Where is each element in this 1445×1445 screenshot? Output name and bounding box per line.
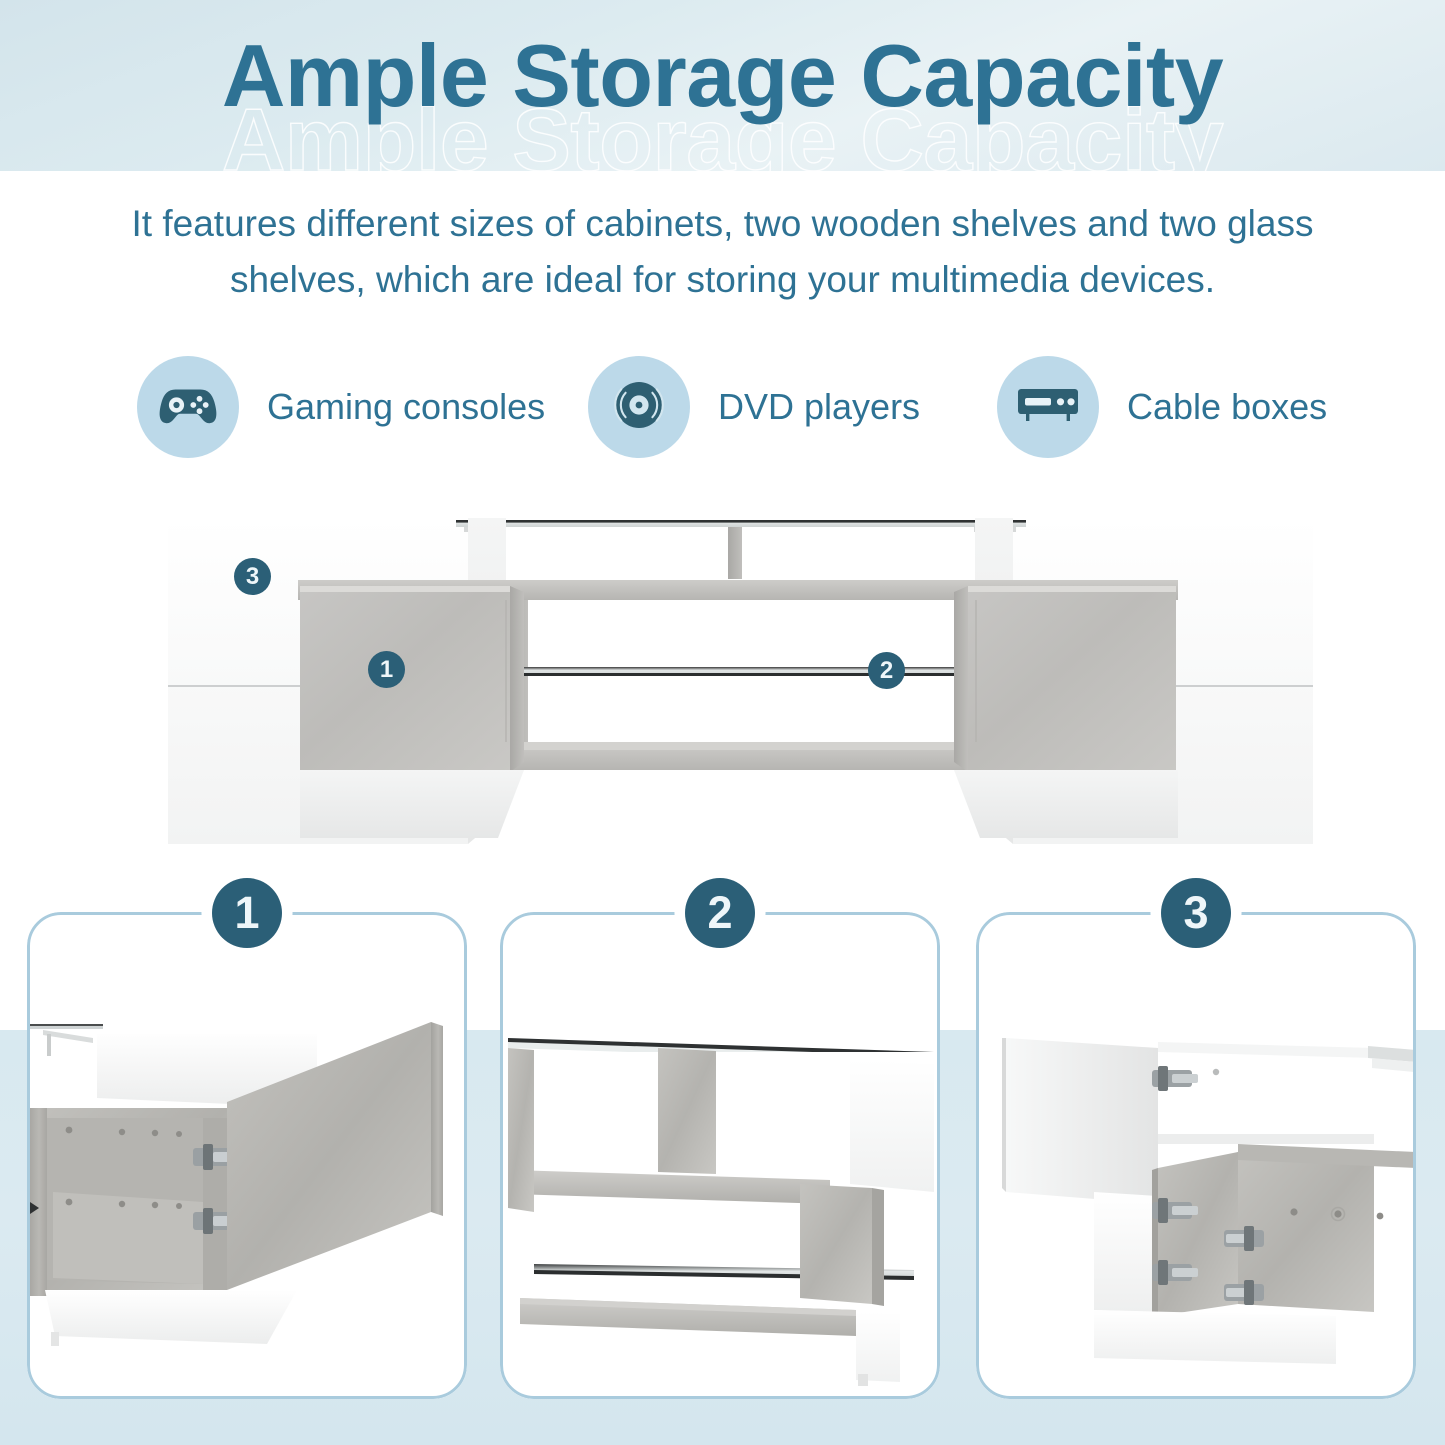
- detail-panel-1-frame: [27, 912, 467, 1399]
- feature-label: DVD players: [718, 386, 920, 428]
- feature-item-gaming-consoles: Gaming consoles: [137, 352, 545, 462]
- detail-panel-3-image: [976, 912, 1416, 1399]
- feature-label: Cable boxes: [1127, 386, 1327, 428]
- hero-callout-3: 3: [234, 558, 271, 595]
- subtitle-line-1: It features different sizes of cabinets,…: [132, 203, 1314, 244]
- feature-list: Gaming consoles DVD players: [0, 352, 1445, 462]
- detail-panel-3: 3: [976, 912, 1416, 1399]
- detail-panel-2-image: [500, 912, 940, 1399]
- feature-item-cable-boxes: Cable boxes: [997, 352, 1327, 462]
- subtitle-line-2: shelves, which are ideal for storing you…: [230, 259, 1215, 300]
- detail-panel-1: 1: [27, 912, 467, 1399]
- feature-icon-circle: [997, 356, 1099, 458]
- hero-product-image: [168, 512, 1313, 847]
- detail-panel-1-badge: 1: [212, 878, 282, 948]
- feature-icon-circle: [588, 356, 690, 458]
- detail-panel-2-badge: 2: [685, 878, 755, 948]
- detail-panel-2: 2: [500, 912, 940, 1399]
- detail-panel-3-frame: [976, 912, 1416, 1399]
- gamepad-icon: [158, 382, 218, 433]
- feature-item-dvd-players: DVD players: [588, 352, 920, 462]
- detail-panel-1-image: [27, 912, 467, 1399]
- page-title: Ample Storage Capacity: [0, 32, 1445, 120]
- hero-callout-1: 1: [368, 651, 405, 688]
- hero-callout-2: 2: [868, 652, 905, 689]
- detail-panel-2-frame: [500, 912, 940, 1399]
- dvd-disc-icon: [610, 376, 668, 439]
- page-subtitle: It features different sizes of cabinets,…: [90, 196, 1355, 308]
- feature-label: Gaming consoles: [267, 386, 545, 428]
- detail-panel-3-badge: 3: [1161, 878, 1231, 948]
- feature-icon-circle: [137, 356, 239, 458]
- cable-box-icon: [1016, 385, 1080, 430]
